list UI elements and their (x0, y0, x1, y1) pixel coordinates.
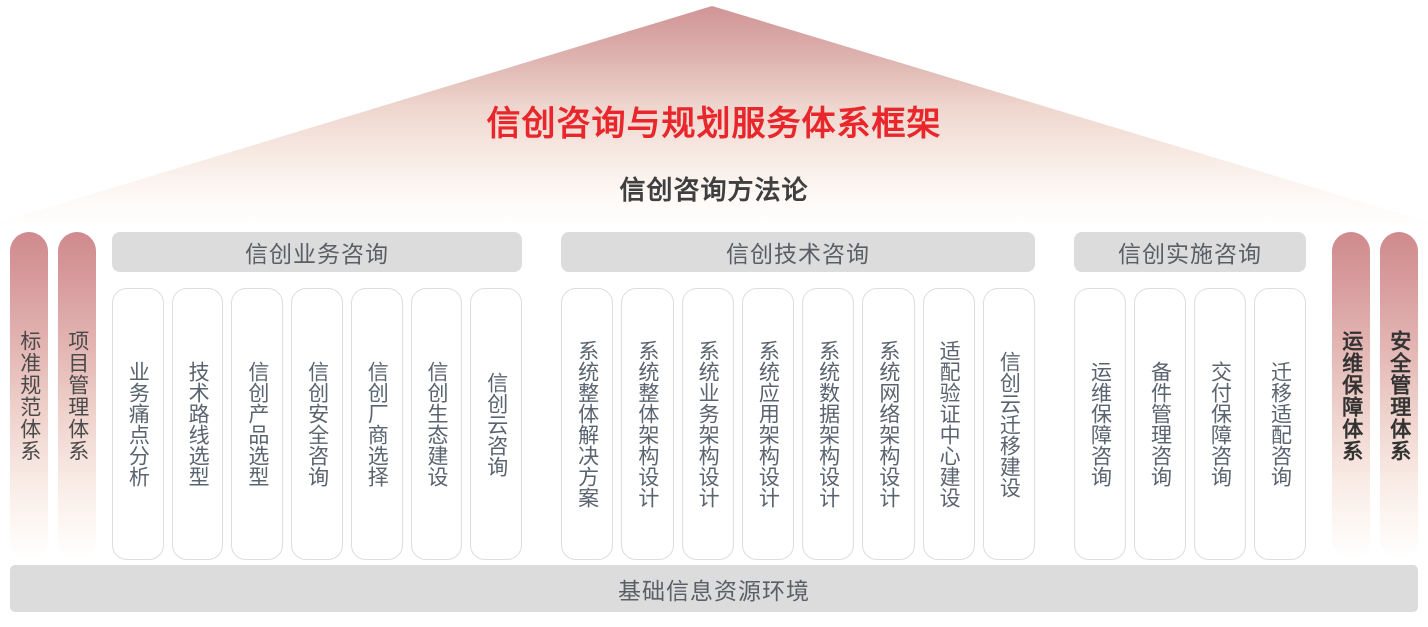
group-technology-consulting: 信创技术咨询 系统整体解决方案 系统整体架构设计 系统业务架构设计 系统应用架构… (561, 232, 1035, 560)
group-header: 信创技术咨询 (561, 232, 1035, 272)
item-label: 系统应用架构设计 (756, 340, 779, 508)
item-card[interactable]: 信创生态建设 (411, 288, 463, 560)
item-label: 信创云咨询 (485, 372, 508, 477)
pillar-label: 项目管理体系 (65, 330, 89, 462)
group-header: 信创业务咨询 (112, 232, 522, 272)
item-label: 迁移适配咨询 (1268, 361, 1291, 487)
group-business-consulting: 信创业务咨询 业务痛点分析 技术路线选型 信创产品选型 信创安全咨询 信创厂商选… (112, 232, 522, 560)
group-item-list: 系统整体解决方案 系统整体架构设计 系统业务架构设计 系统应用架构设计 系统数据… (561, 288, 1035, 560)
group-implementation-consulting: 信创实施咨询 运维保障咨询 备件管理咨询 交付保障咨询 迁移适配咨询 (1074, 232, 1306, 560)
item-card[interactable]: 信创厂商选择 (351, 288, 403, 560)
item-card[interactable]: 系统整体架构设计 (621, 288, 673, 560)
pillar-ops-guarantee-system: 运维保障体系 (1332, 232, 1370, 560)
foundation-bar-label: 基础信息资源环境 (618, 572, 810, 606)
page-subtitle: 信创咨询方法论 (0, 170, 1428, 207)
item-label: 技术路线选型 (186, 361, 209, 487)
item-label: 系统整体架构设计 (636, 340, 659, 508)
foundation-bar: 基础信息资源环境 (10, 565, 1418, 612)
item-label: 业务痛点分析 (126, 361, 149, 487)
item-label: 信创安全咨询 (305, 361, 328, 487)
page-title: 信创咨询与规划服务体系框架 (0, 96, 1428, 145)
group-header: 信创实施咨询 (1074, 232, 1306, 272)
item-card[interactable]: 信创云迁移建设 (983, 288, 1035, 560)
group-item-list: 运维保障咨询 备件管理咨询 交付保障咨询 迁移适配咨询 (1074, 288, 1306, 560)
item-card[interactable]: 备件管理咨询 (1134, 288, 1186, 560)
pillar-standard-spec-system: 标准规范体系 (10, 232, 48, 560)
item-label: 系统网络架构设计 (877, 340, 900, 508)
item-card[interactable]: 技术路线选型 (172, 288, 224, 560)
group-item-list: 业务痛点分析 技术路线选型 信创产品选型 信创安全咨询 信创厂商选择 信创生态建… (112, 288, 522, 560)
pillar-project-management-system: 项目管理体系 (58, 232, 96, 560)
item-card[interactable]: 信创安全咨询 (291, 288, 343, 560)
pillar-label: 运维保障体系 (1339, 330, 1363, 462)
diagram-canvas: 信创咨询与规划服务体系框架 信创咨询方法论 标准规范体系 项目管理体系 运维保障… (0, 0, 1428, 627)
item-card[interactable]: 系统整体解决方案 (561, 288, 613, 560)
item-card[interactable]: 信创产品选型 (231, 288, 283, 560)
item-label: 适配验证中心建设 (937, 340, 960, 508)
item-card[interactable]: 业务痛点分析 (112, 288, 164, 560)
item-label: 系统数据架构设计 (817, 340, 840, 508)
item-label: 系统整体解决方案 (576, 340, 599, 508)
pillar-label: 安全管理体系 (1387, 330, 1411, 462)
pillar-security-management-system: 安全管理体系 (1380, 232, 1418, 560)
item-label: 信创生态建设 (425, 361, 448, 487)
item-label: 系统业务架构设计 (696, 340, 719, 508)
item-card[interactable]: 系统应用架构设计 (742, 288, 794, 560)
pillar-label: 标准规范体系 (17, 330, 41, 462)
item-label: 信创产品选型 (246, 361, 269, 487)
item-card[interactable]: 信创云咨询 (470, 288, 522, 560)
item-card[interactable]: 系统网络架构设计 (862, 288, 914, 560)
item-card[interactable]: 迁移适配咨询 (1254, 288, 1306, 560)
item-card[interactable]: 交付保障咨询 (1194, 288, 1246, 560)
item-card[interactable]: 适配验证中心建设 (923, 288, 975, 560)
item-label: 运维保障咨询 (1088, 361, 1111, 487)
item-label: 交付保障咨询 (1208, 361, 1231, 487)
item-card[interactable]: 系统数据架构设计 (802, 288, 854, 560)
item-label: 备件管理咨询 (1148, 361, 1171, 487)
item-card[interactable]: 系统业务架构设计 (682, 288, 734, 560)
item-card[interactable]: 运维保障咨询 (1074, 288, 1126, 560)
item-label: 信创云迁移建设 (997, 351, 1020, 498)
item-label: 信创厂商选择 (365, 361, 388, 487)
